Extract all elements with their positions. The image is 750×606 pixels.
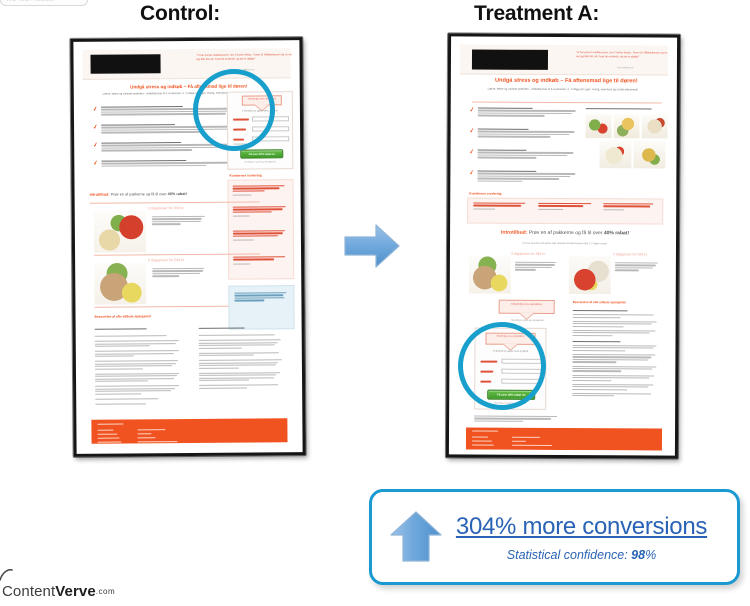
mid-arrow-banner: Tilmeld dig vores nyhedsbrev [499, 300, 555, 314]
testimonial-item [473, 203, 529, 211]
footer-title [97, 424, 123, 426]
benefit-bullet-text [478, 108, 580, 118]
brand-name-light: Content [2, 583, 55, 600]
info-callout-card [228, 285, 294, 330]
offer-prefix: Introtilbud: [501, 230, 527, 236]
result-callout-box: 304% more conversions Statistical confid… [369, 489, 740, 585]
package-1-title: 3 dagsposer for 399 kr. [148, 206, 185, 210]
benefit-bullet: ✓ [470, 150, 580, 151]
footer-title [472, 431, 498, 432]
check-icon: ✓ [92, 106, 98, 113]
benefit-bullet-text [478, 129, 580, 139]
check-icon: ✓ [469, 170, 475, 177]
form-cta-button[interactable]: Få over 40% rabat nu [240, 149, 283, 158]
faq-column-1 [95, 335, 184, 406]
testimonial-item [233, 206, 289, 218]
package-2-photo [569, 256, 611, 294]
corner-tab-label: A/B TEST RESULT [7, 0, 56, 3]
page-subheadline: Lækre, lækre og varierte opskrifter - in… [480, 88, 646, 93]
testimonials-title: Kundernes vurdering [469, 192, 501, 196]
package-1-photo [94, 210, 146, 252]
offer-subtext: Du kan til enhver tid ændre eller afmeld… [467, 241, 663, 245]
testimonials-card [467, 197, 663, 224]
package-1-title: 3 dagsposer for 399 kr. [511, 252, 546, 256]
meal-photo [614, 114, 640, 138]
faq-title: Besvarelse af ofte stillede spørgsmål [95, 314, 151, 318]
check-icon: ✓ [469, 107, 475, 114]
header-quote: "Vi har prøvet madkasserne, hos Fresher … [576, 51, 670, 59]
offer-prefix: Introtilbud: [90, 193, 110, 197]
meal-photo [586, 114, 612, 138]
check-icon: ✓ [469, 149, 475, 156]
benefit-bullet: ✓ [470, 129, 580, 130]
transition-arrow-icon [343, 218, 401, 274]
up-arrow-icon [388, 509, 444, 565]
offer-line: Introtilbud: Prøv en af pakkerne og få t… [467, 229, 663, 236]
testimonial-item [538, 203, 594, 211]
faq-column-1 [572, 310, 660, 398]
faq-col1-title [95, 328, 147, 330]
control-highlight-circle [193, 69, 275, 151]
package-2-text [152, 268, 208, 278]
site-logo [90, 54, 160, 74]
control-column-title: Control: [140, 2, 220, 26]
benefit-bullet: ✓ [469, 171, 579, 172]
faq-title: Besvarelse af ofte stillede spørgsmål [573, 300, 626, 304]
result-confidence-label: Statistical confidence: [507, 548, 631, 562]
page-headline: Undgå stress og indkøb – Få aftensmad li… [464, 77, 669, 84]
result-confidence: Statistical confidence: 98% [448, 548, 715, 562]
check-icon: ✓ [92, 124, 98, 131]
package-2-title: 5 dagsposer for 599 kr. [148, 258, 185, 262]
brand-tld: .com [96, 587, 115, 596]
photo-grid-caption [586, 108, 652, 109]
page-footer [466, 427, 662, 450]
package-1-photo [469, 256, 511, 294]
benefit-bullet: ✓ [470, 108, 580, 109]
site-logo [472, 50, 548, 70]
package-1-text [515, 262, 559, 272]
offer-discount: 40% rabat! [168, 192, 187, 196]
offer-discount: 40% rabat! [604, 230, 629, 236]
meal-photo [642, 114, 668, 138]
form-cta-label: Få over 40% rabat nu [241, 152, 282, 155]
testimonial-item [233, 230, 289, 242]
brand-logo[interactable]: ContentVerve.com [2, 583, 115, 600]
corner-tab: A/B TEST RESULT [0, 0, 88, 6]
offer-text: Prøv en af pakkerne og få til over [527, 230, 603, 236]
result-text-group: 304% more conversions Statistical confid… [448, 513, 721, 562]
page-footer [91, 418, 287, 444]
swoosh-icon [0, 569, 13, 581]
check-icon: ✓ [93, 160, 99, 167]
bottom-text-column [474, 416, 564, 424]
package-1-text [152, 216, 208, 226]
benefit-bullet-text [477, 171, 579, 184]
form-footnote: Tilmelding er gratis og uforpligtende. [233, 161, 287, 163]
offer-text: Prøv en af pakkerne og få til over [110, 192, 168, 196]
testimonial-item [233, 256, 289, 266]
benefit-bullet-text [477, 150, 579, 160]
meal-photo [599, 140, 631, 168]
treatment-column-title: Treatment A: [474, 2, 599, 26]
header-quote-author: - Dan Jefferson IV [616, 67, 670, 70]
check-icon: ✓ [93, 142, 99, 149]
benefit-bullet: ✓ [93, 160, 243, 161]
testimonials-title: Kundernes vurdering [229, 173, 261, 177]
mid-banner-text: Tilmeld dig vores nyhedsbrev [503, 303, 551, 306]
header-quote: "Vi har prøvet madkasserne, hos Fresher … [196, 53, 292, 61]
check-icon: ✓ [469, 128, 475, 135]
treatment-highlight-circle [458, 322, 546, 410]
result-confidence-value: 98 [631, 548, 645, 562]
testimonial-item [603, 203, 659, 211]
info-callout-text [234, 292, 290, 302]
package-2-photo [94, 262, 146, 304]
brand-name-bold: Verve [55, 583, 96, 600]
benefit-bullet-text [101, 160, 243, 169]
result-headline: 304% more conversions [448, 513, 715, 541]
meal-photo [633, 140, 665, 168]
faq-column-2 [199, 334, 285, 390]
package-2-text [615, 262, 661, 272]
result-confidence-suffix: % [645, 548, 656, 562]
package-2-title: 5 dagsposer for 599 kr. [613, 252, 648, 256]
